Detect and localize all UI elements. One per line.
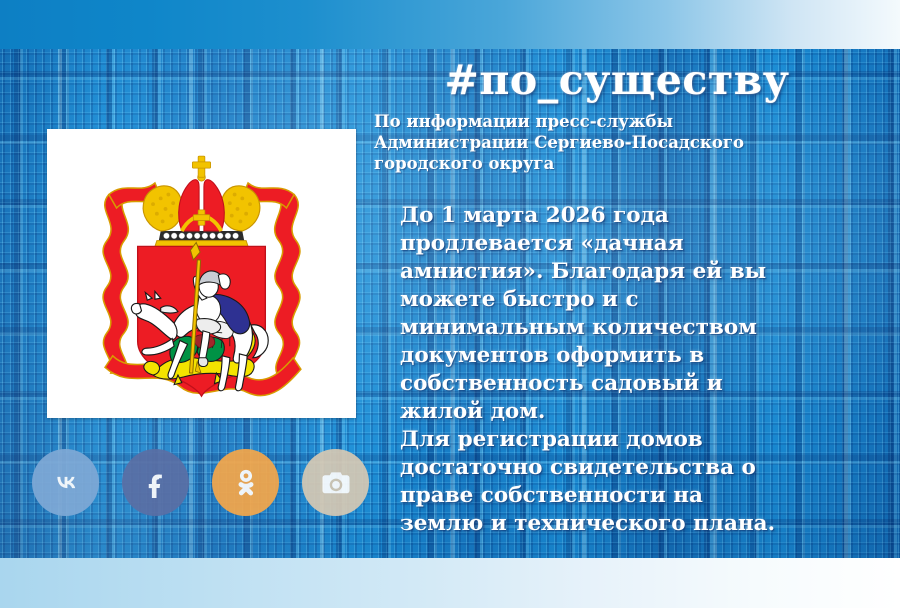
coat-of-arms-moscow-oblast-icon (47, 129, 356, 418)
body-line: достаточно свидетельства о (400, 454, 874, 482)
body-line: продлевается «дачная (400, 230, 874, 258)
social-links-row (32, 449, 369, 516)
social-link-vk[interactable] (32, 449, 99, 516)
source-subtitle: По информации пресс-службы Администрации… (374, 111, 874, 174)
body-line: землю и технического плана. (400, 510, 874, 538)
subtitle-line: Администрации Сергиево-Посадского (374, 132, 874, 153)
subtitle-line: городского округа (374, 153, 874, 174)
subtitle-line: По информации пресс-службы (374, 111, 874, 132)
vk-icon (49, 466, 83, 500)
body-line: минимальным количеством (400, 314, 874, 342)
announcement-body: До 1 марта 2026 года продлевается «дачна… (374, 202, 874, 537)
body-line: До 1 марта 2026 года (400, 202, 874, 230)
body-line: Для регистрации домов (400, 426, 874, 454)
social-link-instagram[interactable] (302, 449, 369, 516)
bottom-gradient-band (0, 558, 900, 608)
instagram-icon (320, 470, 352, 496)
coat-of-arms-panel (47, 129, 356, 418)
facebook-icon (141, 468, 171, 498)
social-link-odnoklassniki[interactable] (212, 449, 279, 516)
body-line: можете быстро и с (400, 286, 874, 314)
odnoklassniki-icon (232, 468, 260, 498)
body-line: собственность садовый и (400, 370, 874, 398)
top-gradient-band (0, 0, 900, 49)
poster-canvas: #по_существу По информации пресс-службы … (0, 0, 900, 608)
hashtag-title: #по_существу (374, 60, 874, 101)
body-line: праве собственности на (400, 482, 874, 510)
social-link-facebook[interactable] (122, 449, 189, 516)
text-column: #по_существу По информации пресс-службы … (374, 60, 874, 538)
body-line: жилой дом. (400, 398, 874, 426)
body-line: документов оформить в (400, 342, 874, 370)
body-line: амнистия». Благодаря ей вы (400, 258, 874, 286)
